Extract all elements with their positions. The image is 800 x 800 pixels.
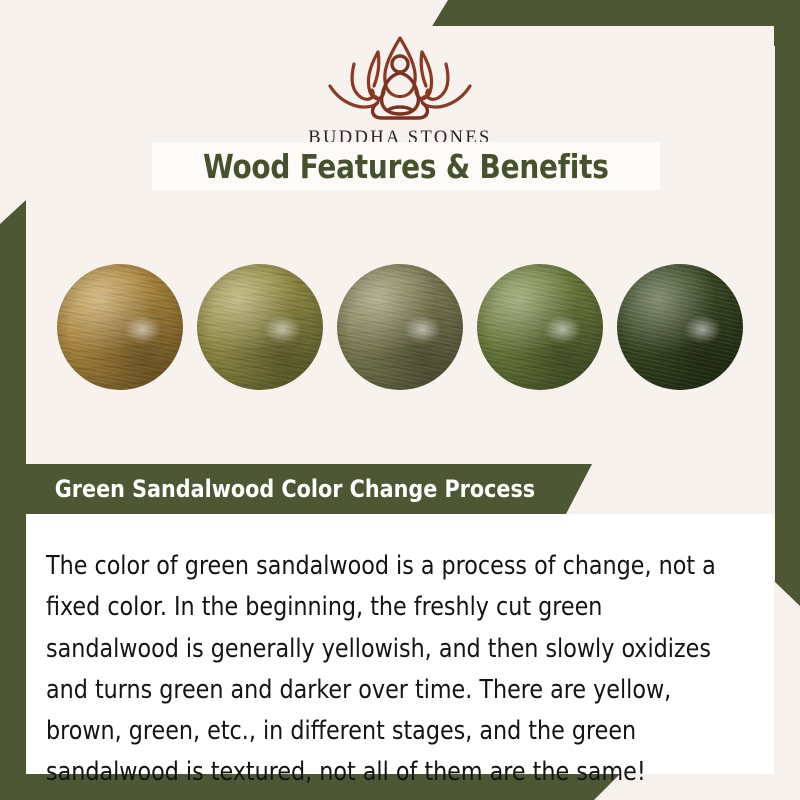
section-heading: Green Sandalwood Color Change Process: [26, 475, 535, 503]
bead-specular-highlight: [617, 264, 743, 390]
frame-band-right: [775, 46, 800, 606]
wood-bead-stage-3: [337, 264, 463, 390]
brand-logo: BUDDHA STONES: [26, 30, 774, 149]
bead-specular-highlight: [57, 264, 183, 390]
wood-bead-stage-5: [617, 264, 743, 390]
poster-page: BUDDHA STONES Wood Features & Benefits: [26, 26, 774, 774]
body-text-card: The color of green sandalwood is a proce…: [26, 514, 774, 774]
lotus-meditation-icon: [316, 30, 484, 126]
title-banner: Wood Features & Benefits: [152, 142, 660, 190]
wood-bead-stage-2: [197, 264, 323, 390]
bead-specular-highlight: [337, 264, 463, 390]
poster-canvas: BUDDHA STONES Wood Features & Benefits: [0, 0, 800, 800]
bead-progression-row: [26, 252, 774, 402]
wood-bead-stage-1: [57, 264, 183, 390]
wood-bead-stage-4: [477, 264, 603, 390]
page-title: Wood Features & Benefits: [203, 147, 609, 186]
section-heading-banner: Green Sandalwood Color Change Process: [26, 464, 592, 514]
frame-band-left: [0, 200, 26, 780]
bead-specular-highlight: [197, 264, 323, 390]
body-paragraph: The color of green sandalwood is a proce…: [46, 546, 723, 794]
bead-specular-highlight: [477, 264, 603, 390]
